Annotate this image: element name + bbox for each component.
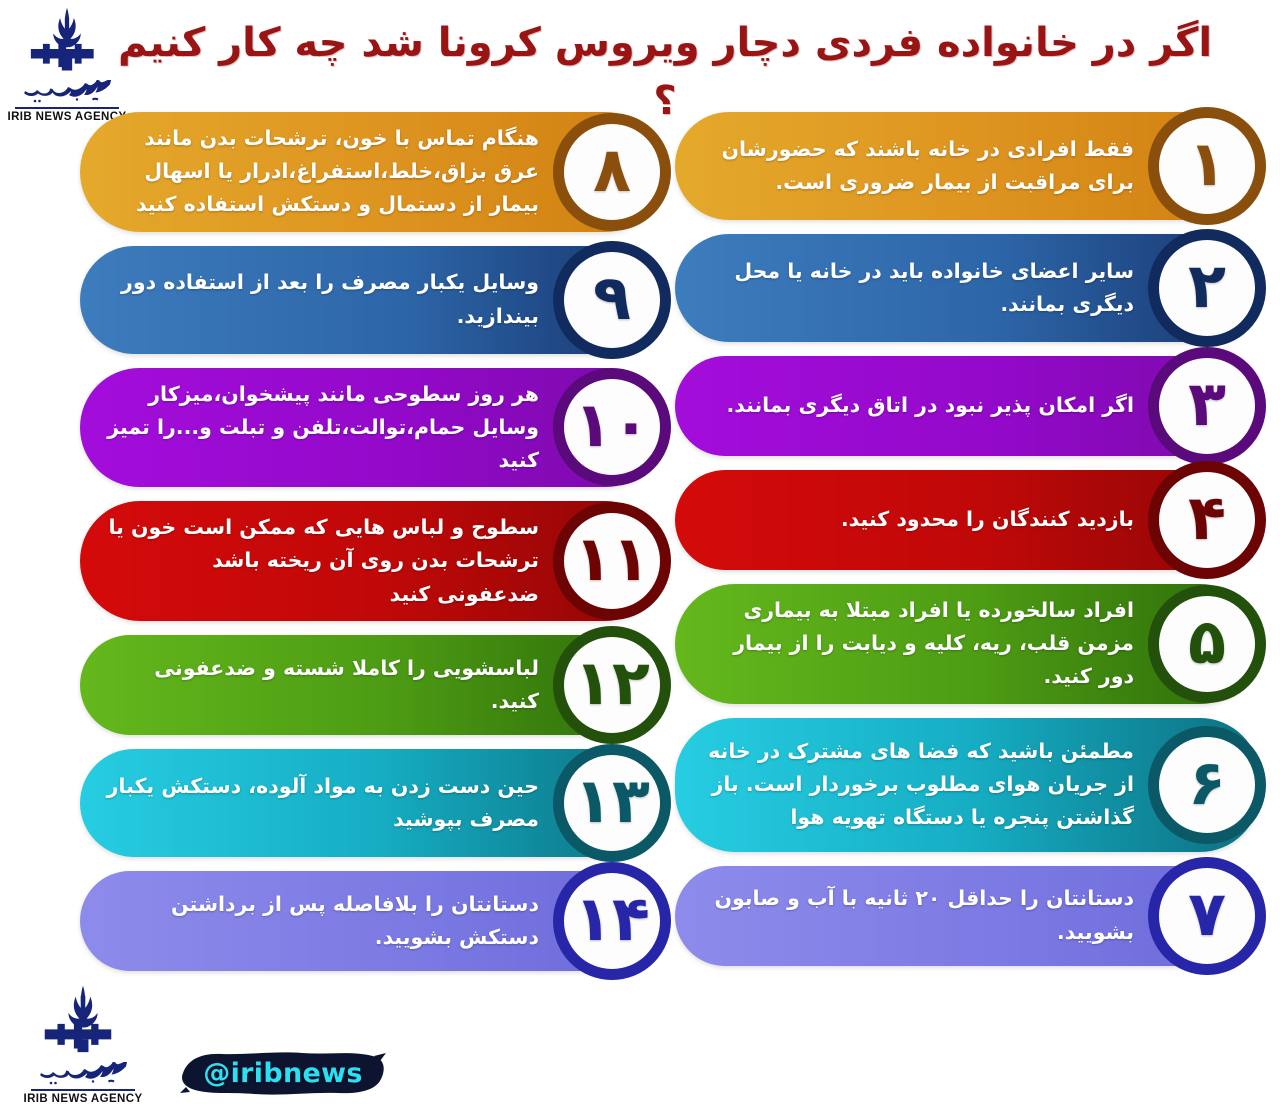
- tip-bar-8[interactable]: هنگام تماس با خون، ترشحات بدن مانند عرق …: [80, 112, 665, 232]
- tip-number: ۴: [1188, 487, 1226, 549]
- tip-number: ۷: [1188, 883, 1226, 945]
- tips-column-right: فقط افرادی در خانه باشند که حضورشان برای…: [675, 112, 1260, 980]
- tip-number-badge: ۸: [553, 113, 671, 231]
- tip-text: اگر امکان پذیر نبود در اتاق دیگری بمانند…: [726, 389, 1134, 422]
- irib-persian-wordmark: [33, 1062, 133, 1088]
- tip-bar-5[interactable]: افراد سالخورده یا افراد مبتلا به بیماری …: [675, 584, 1260, 704]
- tip-row: حین دست زدن به مواد آلوده، دستکش یکبار م…: [80, 749, 665, 857]
- tip-number: ۶: [1188, 752, 1226, 814]
- tip-number: ۹: [593, 267, 631, 329]
- tip-text: دستانتان را حداقل ۲۰ ثانیه با آب و صابون…: [701, 882, 1134, 948]
- tip-bar-13[interactable]: حین دست زدن به مواد آلوده، دستکش یکبار م…: [80, 749, 665, 857]
- tip-text: دستانتان را بلافاصله پس از برداشتن دستکش…: [106, 888, 539, 954]
- tip-number-badge: ۴: [1148, 461, 1266, 579]
- tip-number: ۳: [1188, 373, 1226, 435]
- tip-number: ۸: [593, 139, 631, 201]
- handle-text: @iribnews: [178, 1047, 388, 1099]
- tip-row: فقط افرادی در خانه باشند که حضورشان برای…: [675, 112, 1260, 220]
- tip-bar-4[interactable]: بازدید کنندگان را محدود کنید. ۴: [675, 470, 1260, 570]
- tip-number-badge: ۲: [1148, 229, 1266, 347]
- irib-emblem-icon: [37, 982, 129, 1064]
- tip-row: هنگام تماس با خون، ترشحات بدن مانند عرق …: [80, 112, 665, 232]
- tip-row: دستانتان را بلافاصله پس از برداشتن دستکش…: [80, 871, 665, 971]
- tip-bar-9[interactable]: وسایل یکبار مصرف را بعد از استفاده دور ب…: [80, 246, 665, 354]
- tip-number-badge: ۱۱: [553, 502, 671, 620]
- tip-number-badge: ۱۳: [553, 744, 671, 862]
- tip-row: هر روز سطوحی مانند پیشخوان،میزکار وسایل …: [80, 368, 665, 488]
- logo-divider: [31, 1089, 135, 1091]
- tip-number-badge: ۳: [1148, 347, 1266, 465]
- tip-text: حین دست زدن به مواد آلوده، دستکش یکبار م…: [106, 770, 539, 836]
- tip-number-badge: ۶: [1148, 726, 1266, 844]
- tip-number: ۱۱: [574, 528, 650, 590]
- tip-row: لباسشویی را کاملا شسته و ضدعفونی کنید. ۱…: [80, 635, 665, 735]
- tip-number: ۱۴: [574, 888, 650, 950]
- tip-number: ۱۳: [574, 770, 650, 832]
- tip-bar-14[interactable]: دستانتان را بلافاصله پس از برداشتن دستکش…: [80, 871, 665, 971]
- tip-bar-11[interactable]: سطوح و لباس هایی که ممکن است خون یا ترشح…: [80, 501, 665, 621]
- tip-number-badge: ۱۰: [553, 368, 671, 486]
- tip-row: دستانتان را حداقل ۲۰ ثانیه با آب و صابون…: [675, 866, 1260, 966]
- tip-text: سایر اعضای خانواده باید در خانه یا محل د…: [701, 255, 1134, 321]
- tip-row: سایر اعضای خانواده باید در خانه یا محل د…: [675, 234, 1260, 342]
- tip-number-badge: ۵: [1148, 585, 1266, 703]
- tip-row: افراد سالخورده یا افراد مبتلا به بیماری …: [675, 584, 1260, 704]
- tip-text: هر روز سطوحی مانند پیشخوان،میزکار وسایل …: [106, 378, 539, 478]
- tips-board: فقط افرادی در خانه باشند که حضورشان برای…: [0, 112, 1280, 1042]
- tip-number-badge: ۱: [1148, 107, 1266, 225]
- tip-number: ۱۲: [574, 652, 650, 714]
- tip-bar-10[interactable]: هر روز سطوحی مانند پیشخوان،میزکار وسایل …: [80, 368, 665, 488]
- tip-text: لباسشویی را کاملا شسته و ضدعفونی کنید.: [106, 652, 539, 718]
- tip-number-badge: ۱۲: [553, 626, 671, 744]
- tip-row: اگر امکان پذیر نبود در اتاق دیگری بمانند…: [675, 356, 1260, 456]
- tip-bar-2[interactable]: سایر اعضای خانواده باید در خانه یا محل د…: [675, 234, 1260, 342]
- irib-emblem-icon: [24, 4, 110, 82]
- tip-number: ۱: [1188, 133, 1226, 195]
- tip-number: ۵: [1188, 611, 1226, 673]
- tip-bar-3[interactable]: اگر امکان پذیر نبود در اتاق دیگری بمانند…: [675, 356, 1260, 456]
- tip-text: سطوح و لباس هایی که ممکن است خون یا ترشح…: [106, 511, 539, 611]
- irib-persian-wordmark: [17, 80, 117, 106]
- tip-bar-12[interactable]: لباسشویی را کاملا شسته و ضدعفونی کنید. ۱…: [80, 635, 665, 735]
- tip-text: افراد سالخورده یا افراد مبتلا به بیماری …: [701, 594, 1134, 694]
- tip-number-badge: ۹: [553, 241, 671, 359]
- tip-row: مطمئن باشید که فضا های مشترک در خانه از …: [675, 718, 1260, 852]
- tip-row: وسایل یکبار مصرف را بعد از استفاده دور ب…: [80, 246, 665, 354]
- logo-divider: [15, 107, 119, 109]
- tip-row: بازدید کنندگان را محدود کنید. ۴: [675, 470, 1260, 570]
- social-handle[interactable]: @iribnews: [178, 1047, 388, 1099]
- tip-number: ۱۰: [574, 394, 650, 456]
- tip-bar-7[interactable]: دستانتان را حداقل ۲۰ ثانیه با آب و صابون…: [675, 866, 1260, 966]
- tip-text: هنگام تماس با خون، ترشحات بدن مانند عرق …: [106, 122, 539, 222]
- tips-column-left: هنگام تماس با خون، ترشحات بدن مانند عرق …: [80, 112, 665, 985]
- brand-name-en: IRIB NEWS AGENCY: [23, 1093, 142, 1105]
- tip-number: ۲: [1188, 255, 1226, 317]
- footer: IRIB NEWS AGENCY @iribnews: [0, 1029, 1280, 1109]
- tip-text: بازدید کنندگان را محدود کنید.: [841, 503, 1134, 536]
- tip-bar-1[interactable]: فقط افرادی در خانه باشند که حضورشان برای…: [675, 112, 1260, 220]
- tip-bar-6[interactable]: مطمئن باشید که فضا های مشترک در خانه از …: [675, 718, 1260, 852]
- tip-row: سطوح و لباس هایی که ممکن است خون یا ترشح…: [80, 501, 665, 621]
- header: IRIB NEWS AGENCY اگر در خانواده فردی دچا…: [0, 0, 1280, 118]
- tip-number-badge: ۷: [1148, 857, 1266, 975]
- irib-logo-bottom: IRIB NEWS AGENCY: [8, 980, 158, 1105]
- tip-number-badge: ۱۴: [553, 862, 671, 980]
- tip-text: مطمئن باشید که فضا های مشترک در خانه از …: [701, 735, 1134, 835]
- tip-text: فقط افرادی در خانه باشند که حضورشان برای…: [701, 133, 1134, 199]
- tip-text: وسایل یکبار مصرف را بعد از استفاده دور ب…: [106, 266, 539, 332]
